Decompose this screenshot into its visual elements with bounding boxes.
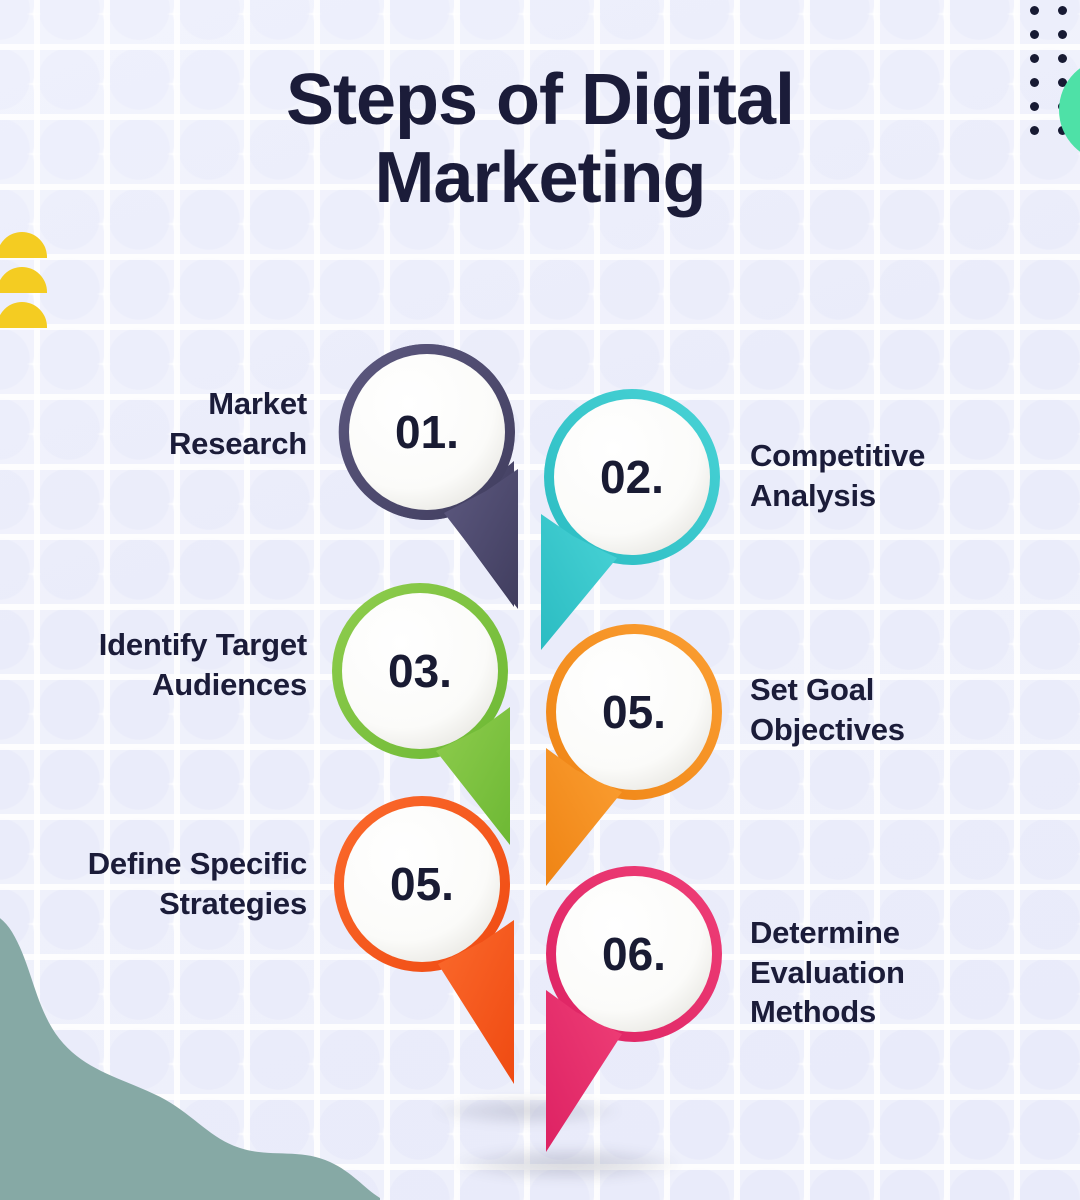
page-title-line-1: Steps of Digital [140, 62, 940, 140]
step-label-05: Define Specific Strategies [0, 844, 307, 923]
infographic-canvas: Steps of Digital Marketing 01. Market Re… [0, 0, 1080, 1200]
step-label-05-line-2: Strategies [0, 884, 307, 924]
step-label-04-line-1: Set Goal [750, 670, 1060, 710]
step-label-02-line-2: Analysis [750, 476, 1060, 516]
step-label-01: Market Research [7, 384, 307, 463]
yellow-domes-decoration [0, 232, 51, 328]
step-label-01-line-2: Research [7, 424, 307, 464]
step-label-06-line-1: Determine [750, 913, 1060, 953]
step-label-04-line-2: Objectives [750, 710, 1060, 750]
grid-dot-icon [1058, 6, 1067, 15]
step-label-03-line-2: Audiences [0, 665, 307, 705]
step-label-06-line-2: Evaluation [750, 953, 1060, 993]
step-number-01: 01. [347, 352, 507, 512]
step-label-01-line-1: Market [7, 384, 307, 424]
step-label-04: Set Goal Objectives [750, 670, 1060, 749]
step-number-03: 03. [340, 591, 500, 751]
step-number-06: 06. [554, 874, 714, 1034]
step-pin-02[interactable]: 02. [531, 388, 731, 678]
step-label-02-line-1: Competitive [750, 436, 1060, 476]
step-label-06: Determine Evaluation Methods [750, 913, 1060, 1032]
step-label-03: Identify Target Audiences [0, 625, 307, 704]
step-number-02: 02. [552, 397, 712, 557]
step-pin-05[interactable]: 05. [330, 796, 530, 1096]
page-title-line-2: Marketing [140, 140, 940, 218]
grid-dot-icon [1058, 30, 1067, 39]
step-number-05: 05. [342, 804, 502, 964]
page-title: Steps of Digital Marketing [0, 62, 1080, 218]
grid-dot-icon [1030, 30, 1039, 39]
grid-dot-icon [1030, 6, 1039, 15]
step-label-06-line-3: Methods [750, 992, 1060, 1032]
step-label-02: Competitive Analysis [750, 436, 1060, 515]
step-pin-06[interactable]: 06. [534, 866, 734, 1166]
step-label-03-line-1: Identify Target [0, 625, 307, 665]
step-label-05-line-1: Define Specific [0, 844, 307, 884]
